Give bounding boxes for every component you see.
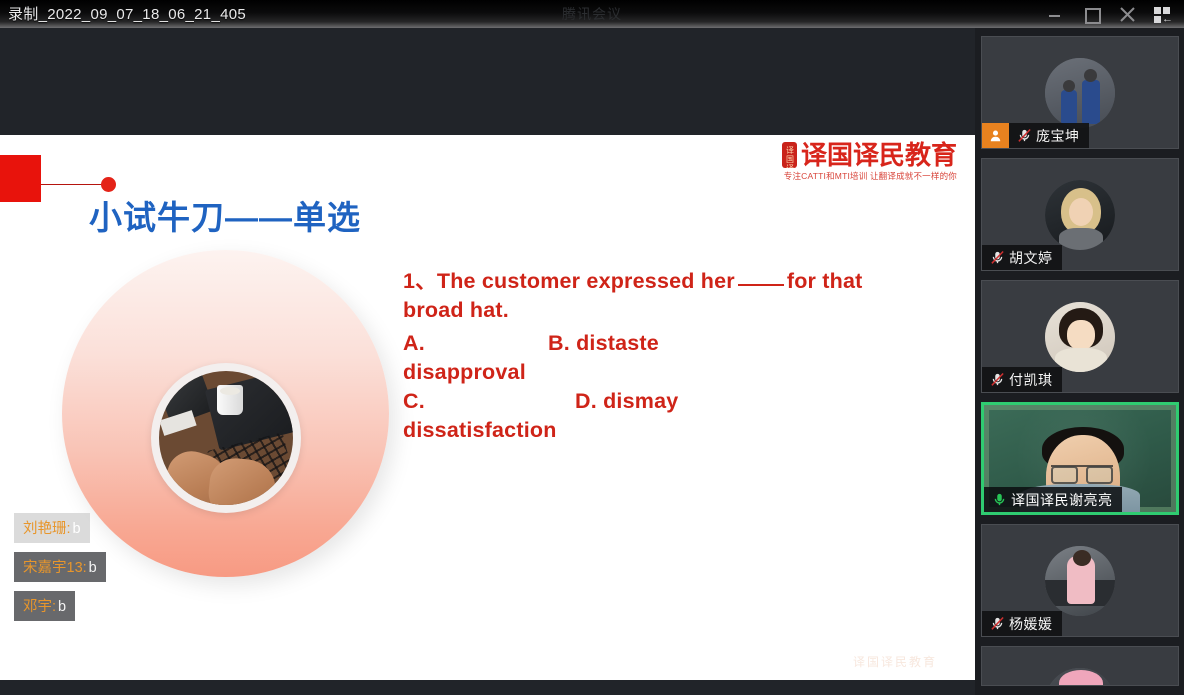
question-stem-before: The customer expressed her [437, 269, 735, 293]
host-badge-icon [982, 123, 1009, 148]
maximize-button[interactable] [1080, 3, 1102, 25]
question-number: 1、 [403, 269, 437, 293]
slide-title: 小试牛刀——单选 [89, 191, 361, 239]
chat-overlay: 刘艳珊: b 宋嘉宇13: b 邓宇: b [14, 513, 106, 621]
avatar [1045, 302, 1115, 372]
quiz-question: 1、The customer expressed herfor that bro… [403, 267, 903, 445]
chat-text: b [73, 521, 81, 537]
participant-tile[interactable] [981, 646, 1179, 686]
chat-message: 刘艳珊: b [14, 513, 90, 543]
avatar [1045, 180, 1115, 250]
slide-accent-dot [101, 177, 116, 192]
logo-tagline: 专注CATTI和MTI培训 让翻译成就不一样的你 [782, 170, 957, 182]
option-a-text: disapproval [403, 360, 526, 384]
question-stem-line2: broad hat. [403, 296, 903, 325]
avatar [1045, 668, 1115, 686]
option-c-text: dissatisfaction [403, 418, 557, 442]
participant-name: 付凯琪 [1009, 370, 1053, 390]
minimize-button[interactable] [1044, 3, 1066, 25]
slide-accent-square [0, 155, 41, 202]
mic-muted-icon [985, 367, 1009, 392]
option-d-text: dismay [603, 389, 678, 413]
option-b-key: B. [548, 331, 570, 355]
mic-muted-icon [1012, 123, 1036, 148]
participant-rail[interactable]: 庞宝坤 胡文婷 [975, 28, 1184, 695]
participant-tile[interactable]: 庞宝坤 [981, 36, 1179, 149]
participant-name: 译国译民谢亮亮 [1011, 490, 1113, 510]
chat-sender: 宋嘉宇13: [23, 556, 87, 577]
chat-sender: 邓宇: [23, 595, 56, 616]
avatar [1045, 546, 1115, 616]
chat-message: 邓宇: b [14, 591, 75, 621]
participant-tile[interactable]: 胡文婷 [981, 158, 1179, 271]
participant-name-bar: 胡文婷 [982, 245, 1062, 270]
option-d: D. dismay [575, 387, 678, 445]
mic-muted-icon [985, 245, 1009, 270]
question-blank [738, 284, 784, 286]
presentation-slide: 小试牛刀——单选 译国译民 译国译民教育 专注CATTI和MTI培训 让翻译成就… [0, 135, 975, 680]
participant-tile-active-speaker[interactable]: 译国译民谢亮亮 [981, 402, 1179, 515]
logo-main-text: 译国译民教育 [801, 141, 957, 169]
shared-screen-stage[interactable]: 小试牛刀——单选 译国译民 译国译民教育 专注CATTI和MTI培训 让翻译成就… [0, 28, 975, 695]
participant-tile[interactable]: 杨媛媛 [981, 524, 1179, 637]
option-c-key: C. [403, 389, 425, 413]
participant-name-bar: 付凯琪 [982, 367, 1062, 392]
slide-accent-line [41, 184, 107, 185]
chat-message: 宋嘉宇13: b [14, 552, 106, 582]
mic-muted-icon [985, 611, 1009, 636]
option-a: A. disapproval [403, 329, 548, 387]
slide-watermark: 译国译民教育 [853, 653, 937, 670]
mic-active-icon [987, 487, 1011, 512]
app-title-label: 腾讯会议 [0, 4, 1184, 24]
option-b: B. distaste [548, 329, 659, 387]
participant-name: 杨媛媛 [1009, 614, 1053, 634]
logo-stamp-icon: 译国译民 [782, 142, 797, 168]
avatar [1045, 58, 1115, 128]
laptop-typing-photo [159, 371, 293, 505]
participant-name-bar: 杨媛媛 [982, 611, 1062, 636]
chat-sender: 刘艳珊: [23, 517, 71, 538]
question-stem-after: for that [787, 269, 863, 293]
participant-name-bar: 译国译民谢亮亮 [984, 487, 1122, 512]
participant-name: 庞宝坤 [1036, 126, 1080, 146]
option-d-key: D. [575, 389, 597, 413]
brand-logo: 译国译民 译国译民教育 专注CATTI和MTI培训 让翻译成就不一样的你 [782, 141, 957, 182]
meeting-window: 录制_2022_09_07_18_06_21_405 腾讯会议 ← 小试牛刀——… [0, 0, 1184, 695]
option-c: C. dissatisfaction [403, 387, 575, 445]
participant-name: 胡文婷 [1009, 248, 1053, 268]
participant-tile[interactable]: 付凯琪 [981, 280, 1179, 393]
option-a-key: A. [403, 331, 425, 355]
option-b-text: distaste [576, 331, 659, 355]
participant-name-bar: 庞宝坤 [982, 123, 1089, 148]
close-icon[interactable] [1116, 3, 1138, 25]
question-options: A. disapproval B. distaste C. dissatisfa… [403, 329, 903, 445]
chat-text: b [58, 599, 66, 615]
window-titlebar: 录制_2022_09_07_18_06_21_405 腾讯会议 ← [0, 0, 1184, 28]
window-controls: ← [1044, 0, 1180, 28]
app-grid-icon[interactable]: ← [1152, 3, 1174, 25]
chat-text: b [89, 560, 97, 576]
